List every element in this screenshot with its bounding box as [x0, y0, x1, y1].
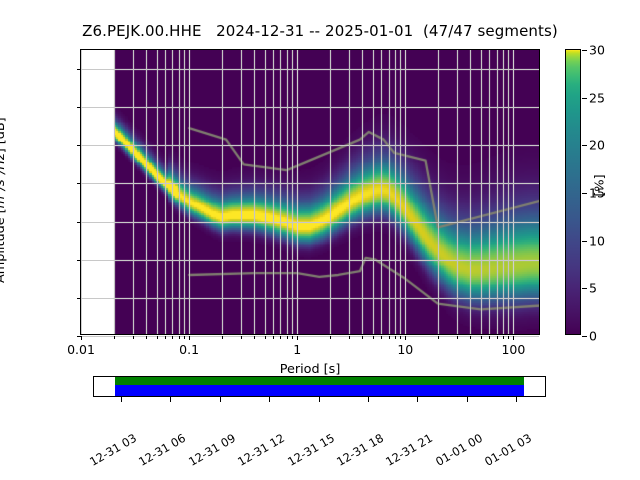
x-tick	[508, 336, 509, 339]
x-tick	[405, 336, 406, 340]
timeline-tick	[368, 397, 369, 402]
timeline-segments-band	[115, 377, 524, 385]
x-tick	[146, 336, 147, 339]
colorbar-tick	[582, 241, 587, 242]
timeline-tick	[269, 397, 270, 402]
x-tick	[400, 336, 401, 339]
x-tick-label: 0.1	[179, 342, 199, 357]
x-tick	[497, 336, 498, 339]
y-tick	[77, 69, 82, 70]
y-tick	[77, 183, 82, 184]
ppsd-plot-axes: −60−80−100−120−140−160−180−2000.010.1110…	[80, 49, 540, 335]
x-tick	[222, 336, 223, 339]
x-tick	[184, 336, 185, 339]
colorbar-tick-label: 0	[589, 329, 597, 344]
x-tick	[265, 336, 266, 339]
x-tick-label: 0.01	[67, 342, 95, 357]
x-tick	[81, 336, 82, 340]
timeline-tick-label: 01-01 03	[482, 431, 534, 469]
x-tick	[254, 336, 255, 339]
y-tick	[77, 298, 82, 299]
x-tick	[165, 336, 166, 339]
x-tick	[457, 336, 458, 339]
timeline-tick	[319, 397, 320, 402]
x-tick-label: 10	[397, 342, 413, 357]
colorbar-tick-label: 25	[589, 90, 605, 105]
timeline-tick-label: 12-31 21	[384, 431, 436, 469]
colorbar-tick	[582, 145, 587, 146]
data-coverage-timeline	[93, 376, 546, 397]
x-tick	[189, 336, 190, 340]
x-tick	[438, 336, 439, 339]
timeline-tick-label: 01-01 00	[433, 431, 485, 469]
colorbar-tick	[582, 98, 587, 99]
colorbar-ticks: 051015202530	[566, 50, 580, 334]
x-tick	[114, 336, 115, 339]
timeline-tick-label: 12-31 12	[235, 431, 287, 469]
plot-ticks: −60−80−100−120−140−160−180−2000.010.1110…	[81, 50, 539, 334]
x-tick	[241, 336, 242, 339]
page-title: Z6.PEJK.00.HHE 2024-12-31 -- 2025-01-01 …	[0, 22, 640, 40]
x-tick	[503, 336, 504, 339]
x-tick	[362, 336, 363, 339]
colorbar-tick	[582, 288, 587, 289]
x-tick	[287, 336, 288, 339]
x-tick	[395, 336, 396, 339]
colorbar-tick	[582, 50, 587, 51]
y-tick	[77, 260, 82, 261]
x-tick	[280, 336, 281, 339]
x-tick	[470, 336, 471, 339]
timeline-tick-label: 12-31 09	[186, 431, 238, 469]
x-tick-label: 100	[501, 342, 525, 357]
x-tick	[330, 336, 331, 339]
x-tick	[481, 336, 482, 339]
colorbar-tick-label: 30	[589, 43, 605, 58]
x-axis-label: Period [s]	[80, 362, 540, 377]
timeline-tick	[467, 397, 468, 402]
x-tick	[297, 336, 298, 340]
x-tick	[273, 336, 274, 339]
timeline-tick-label: 12-31 06	[136, 431, 188, 469]
colorbar-tick-label: 5	[589, 281, 597, 296]
x-tick	[292, 336, 293, 339]
timeline-axis: 12-31 0312-31 0612-31 0912-31 1212-31 15…	[93, 397, 546, 398]
x-tick	[389, 336, 390, 339]
y-tick	[77, 107, 82, 108]
colorbar-tick	[582, 193, 587, 194]
timeline-tick	[417, 397, 418, 402]
x-tick-label: 1	[293, 342, 301, 357]
x-tick	[373, 336, 374, 339]
colorbar: 051015202530	[565, 49, 581, 335]
colorbar-tick	[582, 336, 587, 337]
colorbar-label: [%]	[593, 126, 608, 246]
x-tick	[157, 336, 158, 339]
x-tick	[179, 336, 180, 339]
timeline-tick	[170, 397, 171, 402]
x-tick	[513, 336, 514, 340]
timeline-tick	[220, 397, 221, 402]
x-tick	[172, 336, 173, 339]
timeline-tick	[516, 397, 517, 402]
timeline-tick-label: 12-31 18	[334, 431, 386, 469]
x-tick	[489, 336, 490, 339]
timeline-tick	[121, 397, 122, 402]
timeline-tick-label: 12-31 15	[285, 431, 337, 469]
y-tick	[77, 222, 82, 223]
x-tick	[349, 336, 350, 339]
x-tick	[381, 336, 382, 339]
timeline-tick-label: 12-31 03	[87, 431, 139, 469]
x-tick	[133, 336, 134, 339]
y-axis-label: Amplitude [m2/s4/Hz] [dB]	[0, 10, 8, 390]
timeline-coverage-band	[115, 385, 524, 396]
y-tick	[77, 145, 82, 146]
